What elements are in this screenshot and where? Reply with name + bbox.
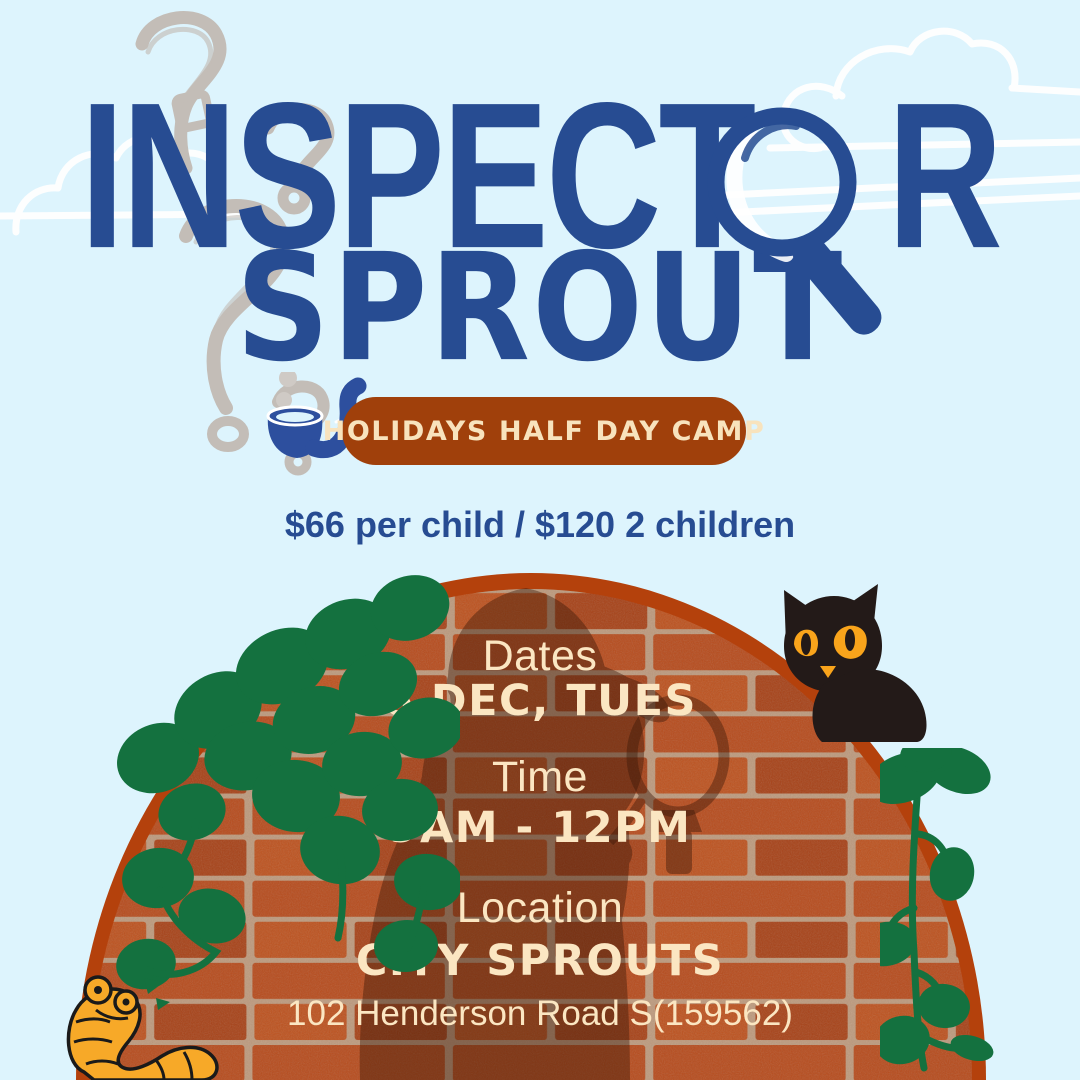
hanging-vine-right-icon	[880, 748, 1020, 1080]
cartoon-worm-icon	[38, 968, 234, 1080]
price-line: $66 per child / $120 2 children	[0, 504, 1080, 546]
black-cat-icon	[762, 582, 944, 742]
camp-type-label: HOLIDAYS HALF DAY CAMP	[323, 416, 766, 447]
poster-canvas: INSPECTR SPROUT HOLIDAYS HALF DAY CAMP $…	[0, 0, 1080, 1080]
camp-type-banner: HOLIDAYS HALF DAY CAMP	[342, 397, 746, 465]
magnifying-glass-icon	[690, 96, 940, 346]
